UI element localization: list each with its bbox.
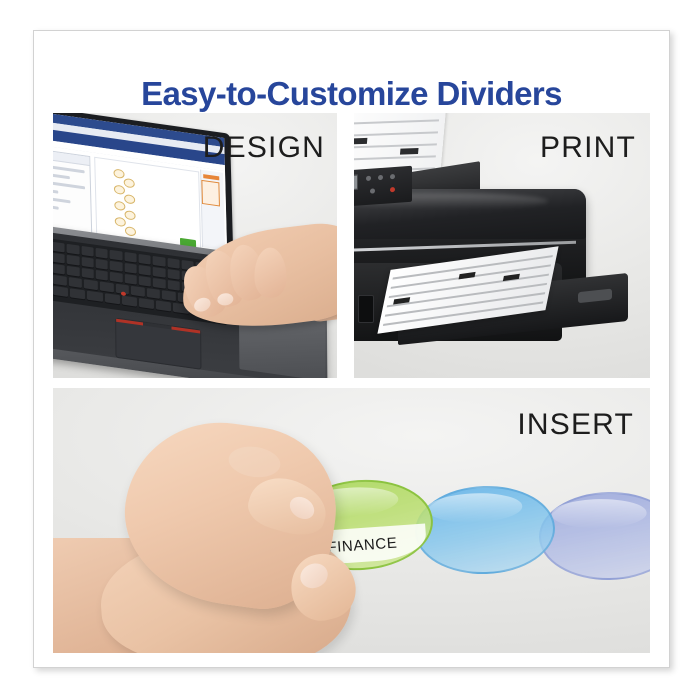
- panel-print[interactable]: PRINT: [354, 113, 650, 378]
- tab-preview-dot: [115, 217, 126, 228]
- option-row: [53, 203, 59, 210]
- panel-label-design: DESIGN: [203, 131, 325, 165]
- tab-preview-dot: [125, 226, 136, 237]
- app-preview-panel: [200, 170, 225, 251]
- panel-insert[interactable]: FINANCE INSERT: [53, 388, 650, 653]
- printer-power-button: [390, 187, 395, 192]
- printer-button: [378, 175, 383, 180]
- preview-thumbnail: [201, 180, 220, 207]
- finger: [254, 247, 287, 298]
- cartridge-slot: [358, 295, 374, 323]
- page-title: Easy-to-Customize Dividers: [34, 75, 669, 113]
- panel-label-insert: INSERT: [517, 408, 634, 442]
- tab-preview-dot: [114, 201, 125, 212]
- panel-design[interactable]: DESIGN: [53, 113, 337, 378]
- tab-preview-dot: [124, 210, 135, 221]
- divider-tab-blue: [414, 484, 557, 577]
- printer-button: [366, 176, 371, 181]
- option-row: [53, 187, 58, 194]
- option-row: [53, 171, 70, 179]
- panel-label-print: PRINT: [540, 131, 636, 165]
- preview-header-bar: [203, 174, 219, 180]
- printer-button: [370, 188, 375, 193]
- tab-preview-dot: [114, 184, 125, 195]
- product-feature-graphic: Easy-to-Customize Dividers: [0, 0, 700, 700]
- option-row: [53, 195, 71, 203]
- tab-preview-dot: [124, 178, 135, 189]
- printer-control-panel: [354, 166, 412, 208]
- laptop-touchpad: [115, 318, 201, 370]
- content-card: Easy-to-Customize Dividers: [33, 30, 670, 668]
- divider-tab-purple: [538, 491, 650, 581]
- option-row: [53, 179, 85, 189]
- tab-preview-dot: [124, 194, 135, 205]
- tab-highlight: [427, 492, 523, 524]
- printer-button: [390, 174, 395, 179]
- tray-handle: [578, 289, 612, 304]
- tab-highlight: [551, 498, 647, 528]
- touchpad-buttons: [116, 319, 200, 334]
- fingernail: [296, 559, 331, 592]
- printer-display: [354, 175, 358, 192]
- options-panel-header: [53, 148, 89, 166]
- thumbnail: [286, 492, 319, 523]
- trackpoint-nub: [121, 291, 126, 296]
- tab-preview-dot: [113, 168, 124, 179]
